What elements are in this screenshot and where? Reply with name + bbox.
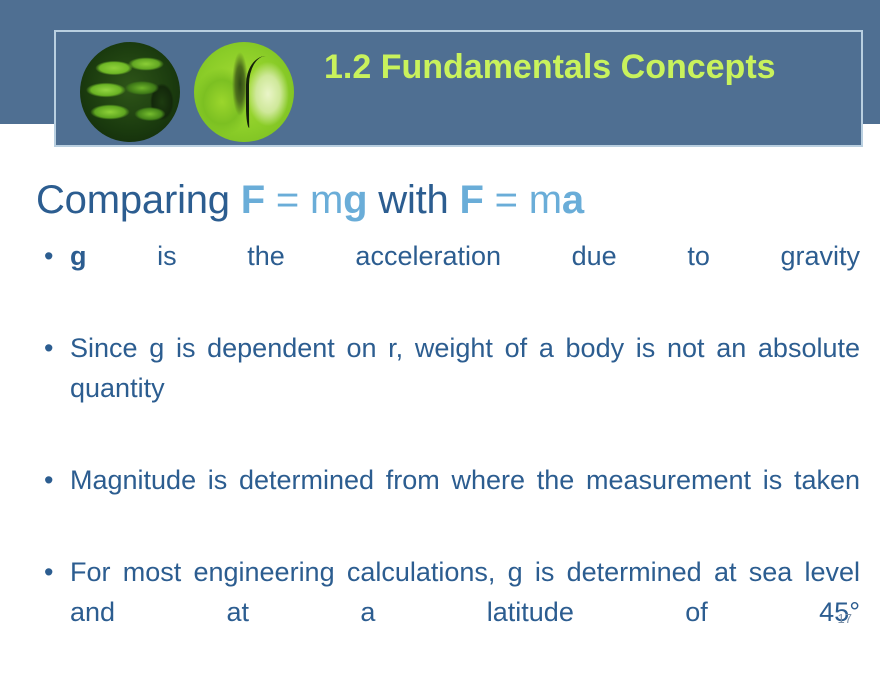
heading-run-3: m [310,178,343,222]
list-item-text: Since g is dependent on r, weight of a b… [70,328,860,448]
heading-run-9: a [562,178,584,222]
page-title: Comparing F = mg with F = ma [36,178,584,223]
list-item: •g is the acceleration due to gravity [36,236,860,316]
bullet-marker-icon: • [44,328,53,368]
list-item: •Magnitude is determined from where the … [36,460,860,540]
heading-run-8: m [529,178,562,222]
heading-run-7: = [484,178,529,222]
bullet-marker-icon: • [44,236,53,276]
heading-run-1: F [241,178,265,222]
page-number: 17 [838,611,852,626]
curled-leaf-photo [194,42,294,142]
list-item-text: For most engineering calculations, g is … [70,552,860,672]
heading-run-2: = [265,178,310,222]
fern-fronds-photo [80,42,180,142]
bullet-list: •g is the acceleration due to gravity•Si… [36,236,860,684]
header-title-box: 1.2 Fundamentals Concepts [54,30,863,147]
list-item-text: Magnitude is determined from where the m… [70,460,860,540]
heading-run-4: g [343,178,367,222]
header-thumbnail-group [80,40,300,144]
bullet-marker-icon: • [44,460,53,500]
list-item: •Since g is dependent on r, weight of a … [36,328,860,448]
heading-run-0: Comparing [36,178,241,222]
list-item: •For most engineering calculations, g is… [36,552,860,672]
list-item-text: g is the acceleration due to gravity [70,236,860,316]
slide-header-title: 1.2 Fundamentals Concepts [324,44,844,90]
list-item-emphasis: g [70,241,87,271]
bullet-marker-icon: • [44,552,53,592]
heading-run-6: F [460,178,484,222]
heading-run-5: with [367,178,459,222]
